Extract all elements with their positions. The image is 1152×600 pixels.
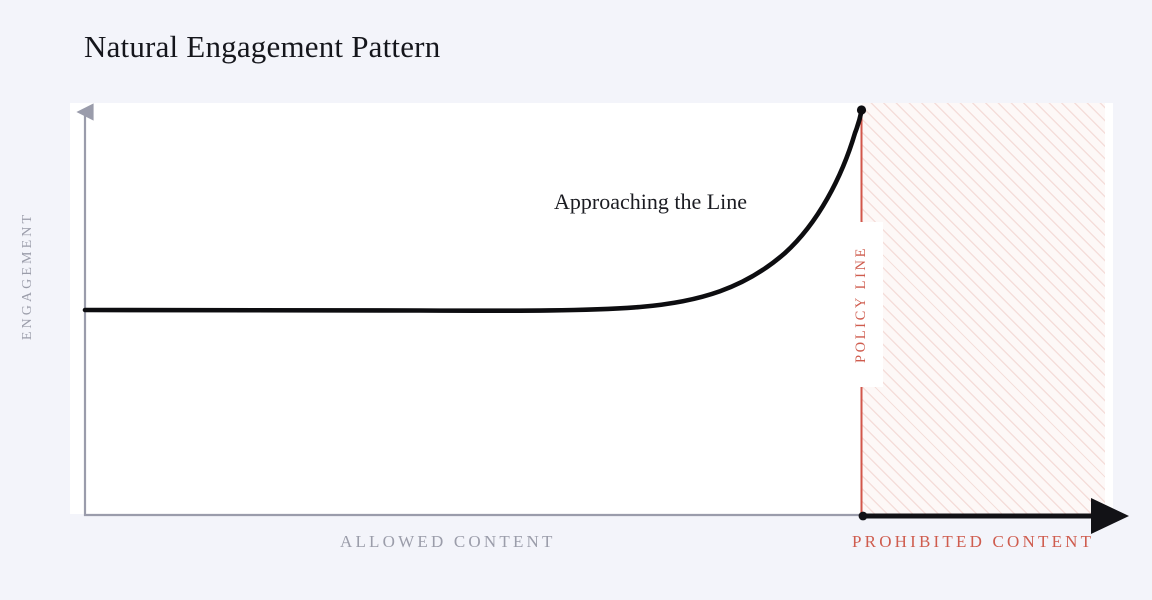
prohibited-content-region <box>862 103 1105 515</box>
y-axis-label: ENGAGEMENT <box>20 186 36 366</box>
curve-annotation-label: Approaching the Line <box>554 189 747 215</box>
x-axis-label-allowed: ALLOWED CONTENT <box>340 532 556 552</box>
x-axis-label-prohibited: PROHIBITED CONTENT <box>852 532 1094 552</box>
chart-page: Natural Engagement Pattern ENGAGEMENT AL… <box>0 0 1152 600</box>
page-title: Natural Engagement Pattern <box>84 29 440 65</box>
policy-line-label-container: POLICY LINE <box>841 222 883 387</box>
policy-line-label: POLICY LINE <box>854 246 871 363</box>
